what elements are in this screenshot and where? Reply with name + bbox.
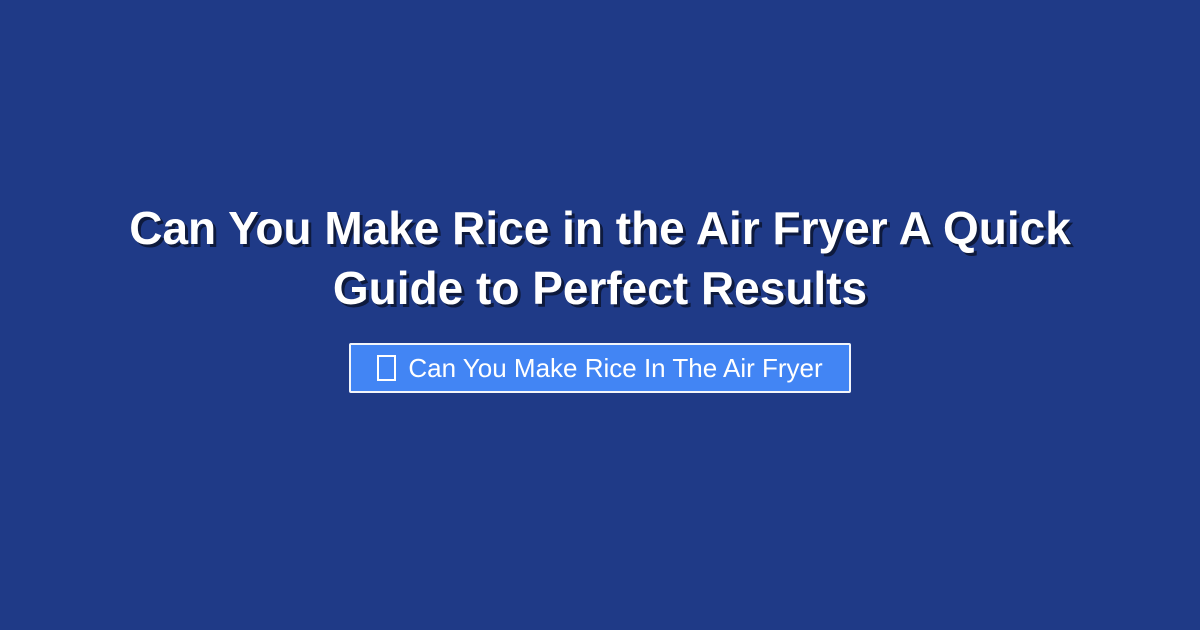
cta-container: Can You Make Rice In The Air Fryer <box>0 343 1200 393</box>
missing-glyph-box-icon <box>377 355 396 381</box>
page-title: Can You Make Rice in the Air Fryer A Qui… <box>0 198 1200 318</box>
cta-button[interactable]: Can You Make Rice In The Air Fryer <box>349 343 850 393</box>
cta-button-label: Can You Make Rice In The Air Fryer <box>408 355 822 381</box>
og-image-card: Can You Make Rice in the Air Fryer A Qui… <box>0 0 1200 630</box>
